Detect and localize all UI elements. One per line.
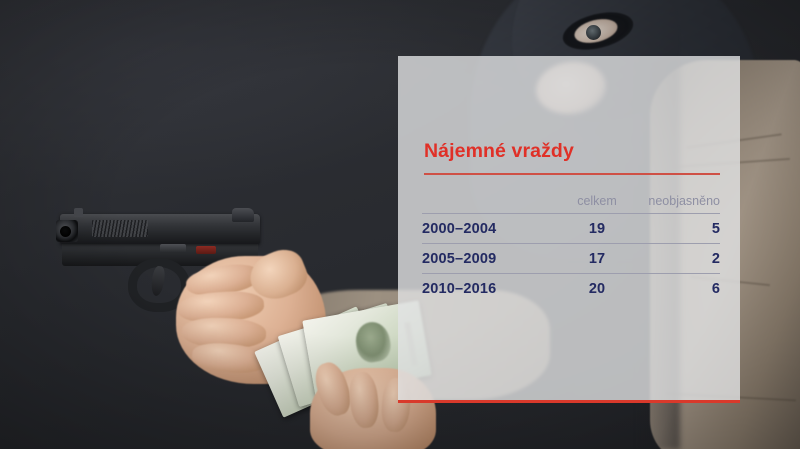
pistol-muzzle-icon — [60, 226, 71, 237]
pistol-front-sight-icon — [74, 208, 83, 217]
table-row: 2010–2016 20 6 — [422, 274, 720, 304]
stats-overlay-panel: Nájemné vraždy celkem neobjasněno 2000–2… — [398, 56, 740, 403]
cell-period: 2010–2016 — [422, 274, 558, 304]
column-header-celkem: celkem — [558, 194, 636, 214]
pistol-slide-icon — [60, 214, 260, 244]
pistol-hammer-icon — [232, 208, 254, 222]
cell-celkem: 20 — [558, 274, 636, 304]
cell-period: 2005–2009 — [422, 244, 558, 274]
cell-neobjasneno: 2 — [636, 244, 720, 274]
panel-accent-rule — [398, 400, 740, 403]
cell-neobjasneno: 6 — [636, 274, 720, 304]
stats-table: celkem neobjasněno 2000–2004 19 5 2005–2… — [422, 194, 720, 303]
column-header-period — [422, 194, 558, 214]
title-divider — [424, 173, 720, 175]
screenshot-root: Nájemné vraždy celkem neobjasněno 2000–2… — [0, 0, 800, 449]
column-header-neobjasneno: neobjasněno — [636, 194, 720, 214]
table-row: 2005–2009 17 2 — [422, 244, 720, 274]
cell-period: 2000–2004 — [422, 214, 558, 244]
eye-iris-icon — [586, 25, 601, 40]
pistol-slide-serrations — [92, 220, 148, 237]
pistol-safety-lever-icon — [196, 246, 216, 254]
cell-neobjasneno: 5 — [636, 214, 720, 244]
cell-celkem: 19 — [558, 214, 636, 244]
table-row: 2000–2004 19 5 — [422, 214, 720, 244]
cell-celkem: 17 — [558, 244, 636, 274]
page-title: Nájemné vraždy — [424, 140, 574, 163]
pistol-slide-stop-icon — [160, 244, 186, 253]
table-header-row: celkem neobjasněno — [422, 194, 720, 214]
